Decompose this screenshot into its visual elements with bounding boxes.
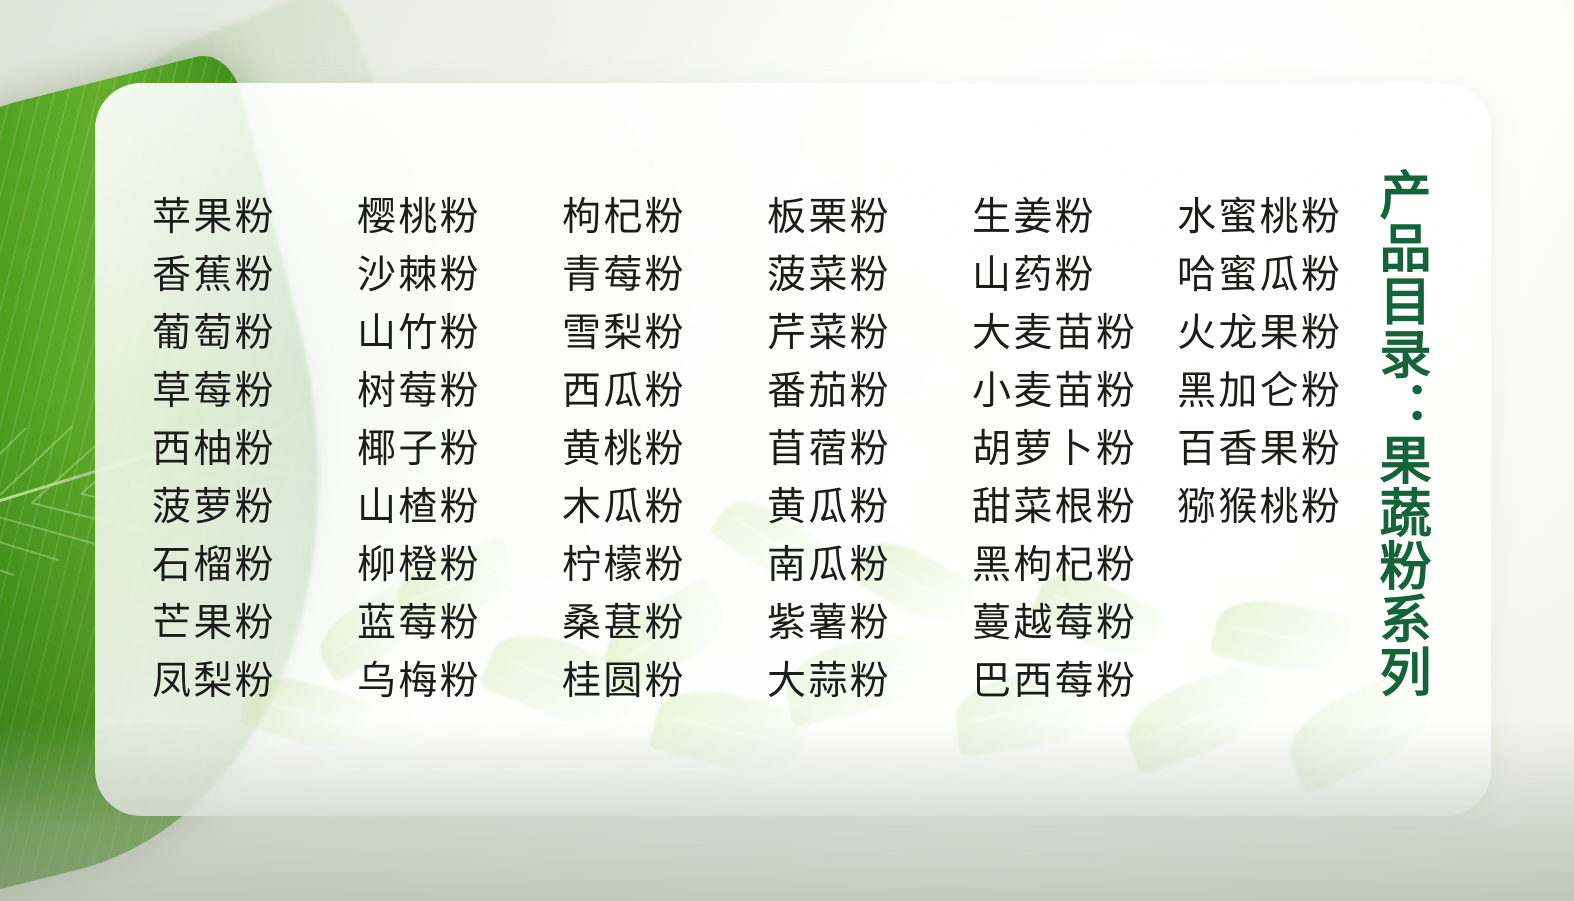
catalog-panel: 苹果粉樱桃粉枸杞粉板栗粉生姜粉水蜜桃粉香蕉粉沙棘粉青莓粉菠菜粉山药粉哈蜜瓜粉葡萄… bbox=[95, 83, 1491, 816]
product-item[interactable]: 樱桃粉 bbox=[357, 198, 562, 237]
product-item[interactable]: 椰子粉 bbox=[357, 430, 562, 469]
product-item[interactable]: 菠菜粉 bbox=[767, 256, 972, 295]
product-item[interactable]: 西柚粉 bbox=[152, 430, 357, 469]
product-item[interactable]: 草莓粉 bbox=[152, 372, 357, 411]
product-item[interactable]: 大蒜粉 bbox=[767, 662, 972, 701]
product-item[interactable]: 芹菜粉 bbox=[767, 314, 972, 353]
product-item[interactable]: 葡萄粉 bbox=[152, 314, 357, 353]
product-item[interactable]: 生姜粉 bbox=[972, 198, 1177, 237]
product-item[interactable]: 南瓜粉 bbox=[767, 546, 972, 585]
product-item[interactable]: 板栗粉 bbox=[767, 198, 972, 237]
product-item[interactable]: 柠檬粉 bbox=[562, 546, 767, 585]
product-item[interactable]: 桂圆粉 bbox=[562, 662, 767, 701]
product-item[interactable]: 乌梅粉 bbox=[357, 662, 562, 701]
product-item[interactable]: 桑葚粉 bbox=[562, 604, 767, 643]
product-item[interactable]: 柳橙粉 bbox=[357, 546, 562, 585]
product-item[interactable]: 哈蜜瓜粉 bbox=[1177, 256, 1382, 295]
product-item[interactable]: 黄瓜粉 bbox=[767, 488, 972, 527]
product-item[interactable]: 山楂粉 bbox=[357, 488, 562, 527]
product-item[interactable]: 沙棘粉 bbox=[357, 256, 562, 295]
product-item[interactable]: 甜菜根粉 bbox=[972, 488, 1177, 527]
product-item[interactable]: 苹果粉 bbox=[152, 198, 357, 237]
background-bottom-shadow bbox=[0, 721, 1574, 901]
product-item[interactable]: 水蜜桃粉 bbox=[1177, 198, 1382, 237]
product-item[interactable]: 芒果粉 bbox=[152, 604, 357, 643]
product-item[interactable]: 火龙果粉 bbox=[1177, 314, 1382, 353]
product-item[interactable]: 巴西莓粉 bbox=[972, 662, 1177, 701]
product-item[interactable]: 凤梨粉 bbox=[152, 662, 357, 701]
product-item[interactable]: 胡萝卜粉 bbox=[972, 430, 1177, 469]
product-item[interactable]: 百香果粉 bbox=[1177, 430, 1382, 469]
product-item[interactable]: 树莓粉 bbox=[357, 372, 562, 411]
product-item[interactable]: 石榴粉 bbox=[152, 546, 357, 585]
product-item[interactable]: 蔓越莓粉 bbox=[972, 604, 1177, 643]
poster-stage: 苹果粉樱桃粉枸杞粉板栗粉生姜粉水蜜桃粉香蕉粉沙棘粉青莓粉菠菜粉山药粉哈蜜瓜粉葡萄… bbox=[0, 0, 1574, 901]
product-item[interactable]: 苜蓿粉 bbox=[767, 430, 972, 469]
product-item[interactable]: 大麦苗粉 bbox=[972, 314, 1177, 353]
product-item[interactable]: 青莓粉 bbox=[562, 256, 767, 295]
product-item[interactable]: 菠萝粉 bbox=[152, 488, 357, 527]
page-title: 产品目录：果蔬粉系列 bbox=[1362, 168, 1428, 698]
product-item[interactable]: 黑枸杞粉 bbox=[972, 546, 1177, 585]
product-item[interactable]: 枸杞粉 bbox=[562, 198, 767, 237]
product-item[interactable]: 小麦苗粉 bbox=[972, 372, 1177, 411]
product-item[interactable]: 雪梨粉 bbox=[562, 314, 767, 353]
product-item[interactable]: 番茄粉 bbox=[767, 372, 972, 411]
product-item[interactable]: 紫薯粉 bbox=[767, 604, 972, 643]
product-item[interactable]: 黄桃粉 bbox=[562, 430, 767, 469]
product-item[interactable]: 蓝莓粉 bbox=[357, 604, 562, 643]
product-item[interactable]: 香蕉粉 bbox=[152, 256, 357, 295]
product-grid: 苹果粉樱桃粉枸杞粉板栗粉生姜粉水蜜桃粉香蕉粉沙棘粉青莓粉菠菜粉山药粉哈蜜瓜粉葡萄… bbox=[152, 188, 1382, 710]
product-item[interactable]: 猕猴桃粉 bbox=[1177, 488, 1382, 527]
product-item[interactable]: 木瓜粉 bbox=[562, 488, 767, 527]
product-item[interactable]: 黑加仑粉 bbox=[1177, 372, 1382, 411]
product-item[interactable]: 山竹粉 bbox=[357, 314, 562, 353]
product-item[interactable]: 山药粉 bbox=[972, 256, 1177, 295]
product-item[interactable]: 西瓜粉 bbox=[562, 372, 767, 411]
